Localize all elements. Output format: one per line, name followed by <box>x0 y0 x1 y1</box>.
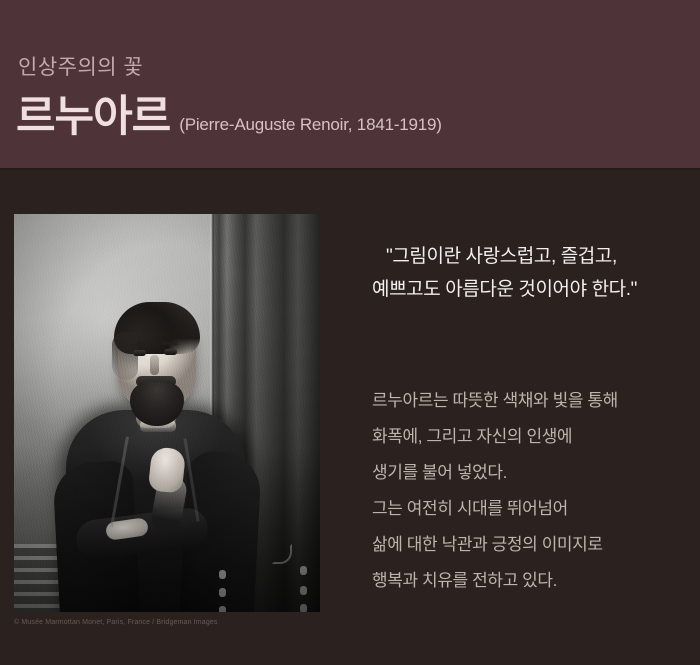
description-paragraphs: 르누아르는 따뜻한 색채와 빛을 통해 화폭에, 그리고 자신의 인생에 생기를… <box>372 383 690 599</box>
portrait-block: © Musée Marmottan Monet, Paris, France /… <box>14 214 320 628</box>
description-line: 르누아르는 따뜻한 색채와 빛을 통해 <box>372 383 690 419</box>
header-banner: 인상주의의 꽃 르누아르 (Pierre-Auguste Renoir, 184… <box>0 0 700 170</box>
photo-credit-caption: © Musée Marmottan Monet, Paris, France /… <box>14 618 320 628</box>
quote-line-2: 예쁘고도 아름다운 것이어야 한다." <box>372 273 690 306</box>
renoir-quote: "그림이란 사랑스럽고, 즐겁고, 예쁘고도 아름다운 것이어야 한다." <box>372 240 690 306</box>
content-area: © Musée Marmottan Monet, Paris, France /… <box>0 170 700 665</box>
description-line: 삶에 대한 낙관과 긍정의 이미지로 <box>372 527 690 563</box>
header-eyebrow: 인상주의의 꽃 <box>18 51 143 81</box>
photo-vignette <box>14 214 320 612</box>
header-title-group: 르누아르 (Pierre-Auguste Renoir, 1841-1919) <box>16 97 442 138</box>
text-column: "그림이란 사랑스럽고, 즐겁고, 예쁘고도 아름다운 것이어야 한다." 르누… <box>372 170 690 665</box>
page-subtitle-latin: (Pierre-Auguste Renoir, 1841-1919) <box>170 115 442 138</box>
portrait-photo <box>14 214 320 612</box>
description-line: 생기를 불어 넣었다. <box>372 455 690 491</box>
page-title: 르누아르 <box>16 97 170 138</box>
renoir-info-card: 인상주의의 꽃 르누아르 (Pierre-Auguste Renoir, 184… <box>0 0 700 665</box>
description-line: 화폭에, 그리고 자신의 인생에 <box>372 419 690 455</box>
description-line: 그는 여전히 시대를 뛰어넘어 <box>372 491 690 527</box>
quote-line-1: "그림이란 사랑스럽고, 즐겁고, <box>372 240 690 273</box>
description-line: 행복과 치유를 전하고 있다. <box>372 563 690 599</box>
